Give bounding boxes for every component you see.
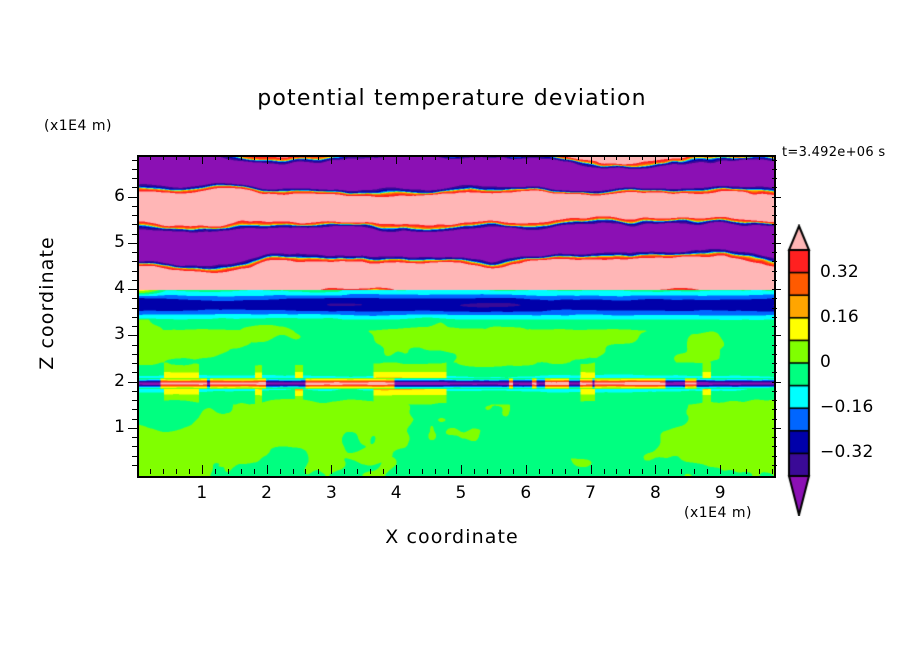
y-axis-tick xyxy=(772,206,777,207)
y-axis-tick xyxy=(132,178,137,179)
x-axis-tick xyxy=(305,469,306,474)
x-axis-tick xyxy=(241,469,242,474)
y-axis-tick-label: 5 xyxy=(85,232,125,252)
colorbar-tick-label: −0.16 xyxy=(820,397,874,417)
x-axis-tick xyxy=(254,469,255,474)
x-axis-tick xyxy=(578,469,579,474)
x-axis-tick xyxy=(176,469,177,474)
y-axis-tick xyxy=(132,169,137,170)
x-axis-tick xyxy=(642,155,643,160)
x-axis-tick xyxy=(578,155,579,160)
x-axis-tick xyxy=(707,469,708,474)
x-axis-tick xyxy=(448,469,449,474)
x-axis-tick xyxy=(487,469,488,474)
x-axis-tick xyxy=(202,465,203,474)
y-axis-tick xyxy=(132,317,137,318)
y-axis-tick xyxy=(132,354,137,355)
x-axis-tick xyxy=(422,469,423,474)
x-axis-tick xyxy=(604,155,605,160)
x-axis-tick xyxy=(150,155,151,160)
x-axis-tick-label: 9 xyxy=(700,483,740,503)
y-axis-tick-label: 3 xyxy=(85,324,125,344)
y-axis-tick xyxy=(128,197,137,198)
y-axis-tick xyxy=(132,271,137,272)
y-axis-tick xyxy=(772,160,777,161)
x-axis-tick xyxy=(448,155,449,160)
x-axis-tick xyxy=(720,465,721,474)
y-axis-tick xyxy=(772,243,781,244)
x-axis-tick xyxy=(293,155,294,160)
y-axis-tick xyxy=(132,252,137,253)
x-axis-tick xyxy=(591,465,592,474)
y-axis-tick xyxy=(132,206,137,207)
x-axis-tick xyxy=(616,469,617,474)
y-axis-tick xyxy=(772,197,781,198)
x-axis-tick-label: 8 xyxy=(635,483,675,503)
x-axis-tick xyxy=(357,155,358,160)
z-axis-unit-label: (x1E4 m) xyxy=(44,118,112,134)
y-axis-tick xyxy=(132,409,137,410)
y-axis-tick xyxy=(772,335,781,336)
page-title: potential temperature deviation xyxy=(0,86,904,111)
contour-field-canvas xyxy=(139,157,774,476)
y-axis-tick xyxy=(772,169,777,170)
x-axis-tick xyxy=(305,155,306,160)
x-axis-tick xyxy=(746,155,747,160)
x-axis-tick xyxy=(189,155,190,160)
x-axis-tick xyxy=(370,469,371,474)
y-axis-tick xyxy=(132,437,137,438)
y-axis-title: Z coordinate xyxy=(36,213,58,393)
x-axis-tick xyxy=(150,469,151,474)
x-axis-tick xyxy=(565,155,566,160)
y-axis-tick xyxy=(132,363,137,364)
y-axis-tick xyxy=(772,252,777,253)
x-axis-tick xyxy=(293,469,294,474)
x-axis-tick xyxy=(357,469,358,474)
x-axis-tick xyxy=(513,469,514,474)
x-axis-tick xyxy=(681,469,682,474)
colorbar-tick-label: 0.32 xyxy=(820,262,859,282)
y-axis-tick xyxy=(772,363,777,364)
y-axis-tick xyxy=(772,419,777,420)
x-axis-tick xyxy=(694,469,695,474)
x-axis-tick-label: 5 xyxy=(441,483,481,503)
x-axis-tick xyxy=(163,155,164,160)
y-axis-tick xyxy=(132,456,137,457)
y-axis-tick xyxy=(132,160,137,161)
y-axis-tick xyxy=(128,289,137,290)
x-axis-tick xyxy=(202,155,203,164)
colorbar-tick-label: −0.32 xyxy=(820,442,874,462)
y-axis-tick xyxy=(128,243,137,244)
x-axis-tick xyxy=(176,155,177,160)
x-axis-tick xyxy=(668,469,669,474)
x-axis-tick xyxy=(396,155,397,164)
y-axis-tick xyxy=(772,261,777,262)
x-axis-tick xyxy=(461,155,462,164)
y-axis-tick xyxy=(132,261,137,262)
x-axis-tick xyxy=(215,155,216,160)
x-axis-tick xyxy=(383,155,384,160)
y-axis-tick-label: 1 xyxy=(85,417,125,437)
x-axis-tick xyxy=(267,155,268,164)
y-axis-tick xyxy=(772,354,777,355)
y-axis-tick xyxy=(772,382,781,383)
x-axis-tick xyxy=(500,155,501,160)
y-axis-tick xyxy=(772,446,777,447)
x-axis-tick xyxy=(733,155,734,160)
x-axis-tick xyxy=(629,155,630,160)
x-axis-tick xyxy=(163,469,164,474)
y-axis-tick xyxy=(772,326,777,327)
x-axis-tick xyxy=(383,469,384,474)
y-axis-tick xyxy=(772,308,777,309)
y-axis-tick xyxy=(772,224,777,225)
y-axis-tick xyxy=(132,326,137,327)
x-axis-tick xyxy=(254,155,255,160)
x-axis-tick xyxy=(513,155,514,160)
y-axis-tick xyxy=(772,289,781,290)
y-axis-tick-label: 6 xyxy=(85,186,125,206)
x-axis-tick xyxy=(552,469,553,474)
x-axis-tick xyxy=(228,469,229,474)
x-axis-tick xyxy=(474,155,475,160)
x-axis-tick xyxy=(526,155,527,164)
y-axis-tick xyxy=(132,308,137,309)
x-axis-unit-label: (x1E4 m) xyxy=(684,505,752,521)
y-axis-tick-label: 2 xyxy=(85,371,125,391)
y-axis-tick xyxy=(132,187,137,188)
y-axis-tick xyxy=(772,428,781,429)
x-axis-tick xyxy=(331,155,332,164)
y-axis-tick xyxy=(772,400,777,401)
colorbar-tick-label: 0 xyxy=(820,352,831,372)
x-axis-tick xyxy=(409,469,410,474)
x-axis-tick xyxy=(733,469,734,474)
y-axis-tick xyxy=(772,271,777,272)
x-axis-tick xyxy=(565,469,566,474)
x-axis-tick xyxy=(331,465,332,474)
y-axis-tick xyxy=(132,224,137,225)
x-axis-tick xyxy=(552,155,553,160)
x-axis-tick xyxy=(318,469,319,474)
x-axis-tick-label: 7 xyxy=(571,483,611,503)
y-axis-tick xyxy=(128,428,137,429)
y-axis-tick xyxy=(772,465,777,466)
x-axis-tick-label: 4 xyxy=(376,483,416,503)
y-axis-tick xyxy=(772,317,777,318)
y-axis-tick-label: 4 xyxy=(85,278,125,298)
y-axis-tick xyxy=(772,234,777,235)
x-axis-tick xyxy=(526,465,527,474)
x-axis-tick xyxy=(759,155,760,160)
y-axis-tick xyxy=(128,335,137,336)
x-axis-tick xyxy=(370,155,371,160)
x-axis-tick xyxy=(604,469,605,474)
x-axis-tick xyxy=(318,155,319,160)
y-axis-tick xyxy=(132,465,137,466)
x-axis-tick xyxy=(616,155,617,160)
x-axis-tick xyxy=(422,155,423,160)
y-axis-tick xyxy=(772,409,777,410)
x-axis-tick-label: 2 xyxy=(247,483,287,503)
y-axis-tick xyxy=(132,234,137,235)
x-axis-tick xyxy=(746,469,747,474)
contour-plot-figure: potential temperature deviation (x1E4 m)… xyxy=(0,0,904,654)
x-axis-tick xyxy=(694,155,695,160)
y-axis-tick xyxy=(132,345,137,346)
x-axis-tick xyxy=(655,155,656,164)
x-axis-tick xyxy=(189,469,190,474)
y-axis-tick xyxy=(772,391,777,392)
x-axis-tick xyxy=(772,469,773,474)
y-axis-tick xyxy=(772,345,777,346)
x-axis-tick-label: 3 xyxy=(311,483,351,503)
y-axis-tick xyxy=(128,382,137,383)
y-axis-tick xyxy=(132,446,137,447)
x-axis-tick xyxy=(280,155,281,160)
x-axis-tick xyxy=(474,469,475,474)
x-axis-tick xyxy=(629,469,630,474)
y-axis-tick xyxy=(772,456,777,457)
y-axis-tick xyxy=(772,215,777,216)
x-axis-tick xyxy=(241,155,242,160)
x-axis-tick-label: 6 xyxy=(506,483,546,503)
time-annotation: t=3.492e+06 s xyxy=(782,145,885,160)
x-axis-tick xyxy=(642,469,643,474)
x-axis-tick xyxy=(539,469,540,474)
y-axis-tick xyxy=(772,437,777,438)
x-axis-tick xyxy=(267,465,268,474)
colorbar xyxy=(782,224,816,516)
x-axis-tick xyxy=(720,155,721,164)
y-axis-tick xyxy=(132,419,137,420)
x-axis-tick xyxy=(487,155,488,160)
x-axis-tick xyxy=(344,155,345,160)
x-axis-tick xyxy=(539,155,540,160)
colorbar-tick-label: 0.16 xyxy=(820,307,859,327)
y-axis-tick xyxy=(132,372,137,373)
y-axis-tick xyxy=(772,187,777,188)
y-axis-tick xyxy=(132,215,137,216)
x-axis-tick xyxy=(280,469,281,474)
x-axis-tick xyxy=(344,469,345,474)
x-axis-tick xyxy=(681,155,682,160)
colorbar-canvas xyxy=(782,224,816,516)
y-axis-tick xyxy=(132,280,137,281)
x-axis-tick xyxy=(707,155,708,160)
x-axis-tick xyxy=(591,155,592,164)
y-axis-tick xyxy=(132,298,137,299)
x-axis-tick xyxy=(500,469,501,474)
x-axis-tick xyxy=(668,155,669,160)
x-axis-title: X coordinate xyxy=(0,526,904,548)
y-axis-tick xyxy=(772,178,777,179)
y-axis-tick xyxy=(132,400,137,401)
x-axis-tick xyxy=(435,155,436,160)
y-axis-tick xyxy=(772,298,777,299)
x-axis-tick-label: 1 xyxy=(182,483,222,503)
x-axis-tick xyxy=(461,465,462,474)
y-axis-tick xyxy=(132,391,137,392)
x-axis-tick xyxy=(759,469,760,474)
x-axis-tick xyxy=(435,469,436,474)
y-axis-tick xyxy=(772,280,777,281)
x-axis-tick xyxy=(396,465,397,474)
x-axis-tick xyxy=(215,469,216,474)
plot-area xyxy=(137,155,776,478)
x-axis-tick xyxy=(228,155,229,160)
x-axis-tick xyxy=(655,465,656,474)
x-axis-tick xyxy=(409,155,410,160)
y-axis-tick xyxy=(772,372,777,373)
